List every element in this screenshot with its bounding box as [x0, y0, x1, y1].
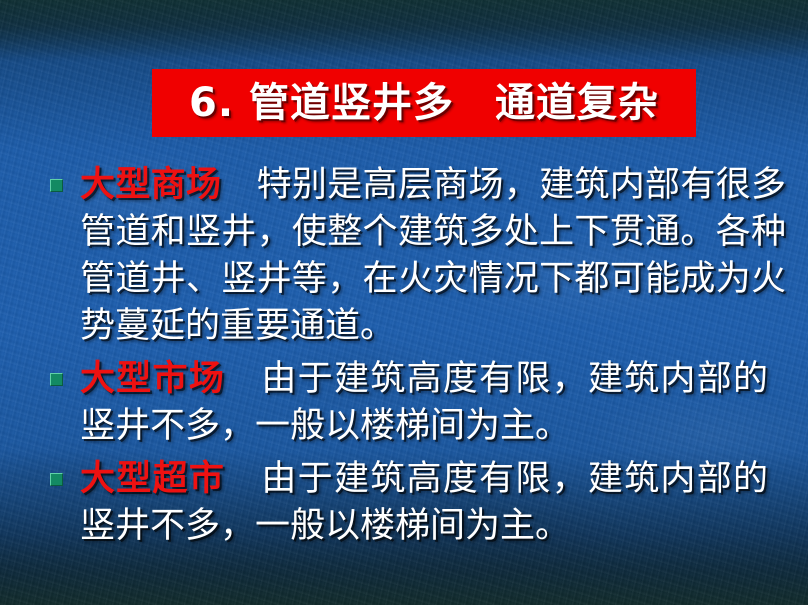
- list-item: 大型商场 特别是高层商场，建筑内部有很多管道和竖井，使整个建筑多处上下贯通。各种…: [48, 162, 768, 350]
- list-item-label: 大型超市: [80, 459, 225, 499]
- bullet-list: 大型商场 特别是高层商场，建筑内部有很多管道和竖井，使整个建筑多处上下贯通。各种…: [48, 162, 768, 556]
- presentation-slide: 6. 管道竖井多 通道复杂 大型商场 特别是高层商场，建筑内部有很多管道和竖井，…: [0, 0, 808, 605]
- square-bullet-icon: [50, 473, 63, 486]
- title-banner: 6. 管道竖井多 通道复杂: [152, 69, 696, 137]
- slide-title: 6. 管道竖井多 通道复杂: [189, 83, 659, 123]
- list-item-gap: [221, 165, 256, 205]
- list-item-text: 大型市场 由于建筑高度有限，建筑内部的竖井不多，一般以楼梯间为主。: [80, 356, 768, 450]
- square-bullet-icon: [50, 373, 63, 386]
- list-item-text: 大型超市 由于建筑高度有限，建筑内部的竖井不多，一般以楼梯间为主。: [80, 456, 768, 550]
- square-bullet-icon: [50, 179, 63, 192]
- list-item-gap: [225, 359, 261, 399]
- list-item-label: 大型市场: [80, 359, 225, 399]
- list-item-text: 大型商场 特别是高层商场，建筑内部有很多管道和竖井，使整个建筑多处上下贯通。各种…: [80, 162, 786, 350]
- list-item-gap: [225, 459, 261, 499]
- list-item: 大型超市 由于建筑高度有限，建筑内部的竖井不多，一般以楼梯间为主。: [48, 456, 768, 550]
- list-item: 大型市场 由于建筑高度有限，建筑内部的竖井不多，一般以楼梯间为主。: [48, 356, 768, 450]
- list-item-label: 大型商场: [80, 165, 221, 205]
